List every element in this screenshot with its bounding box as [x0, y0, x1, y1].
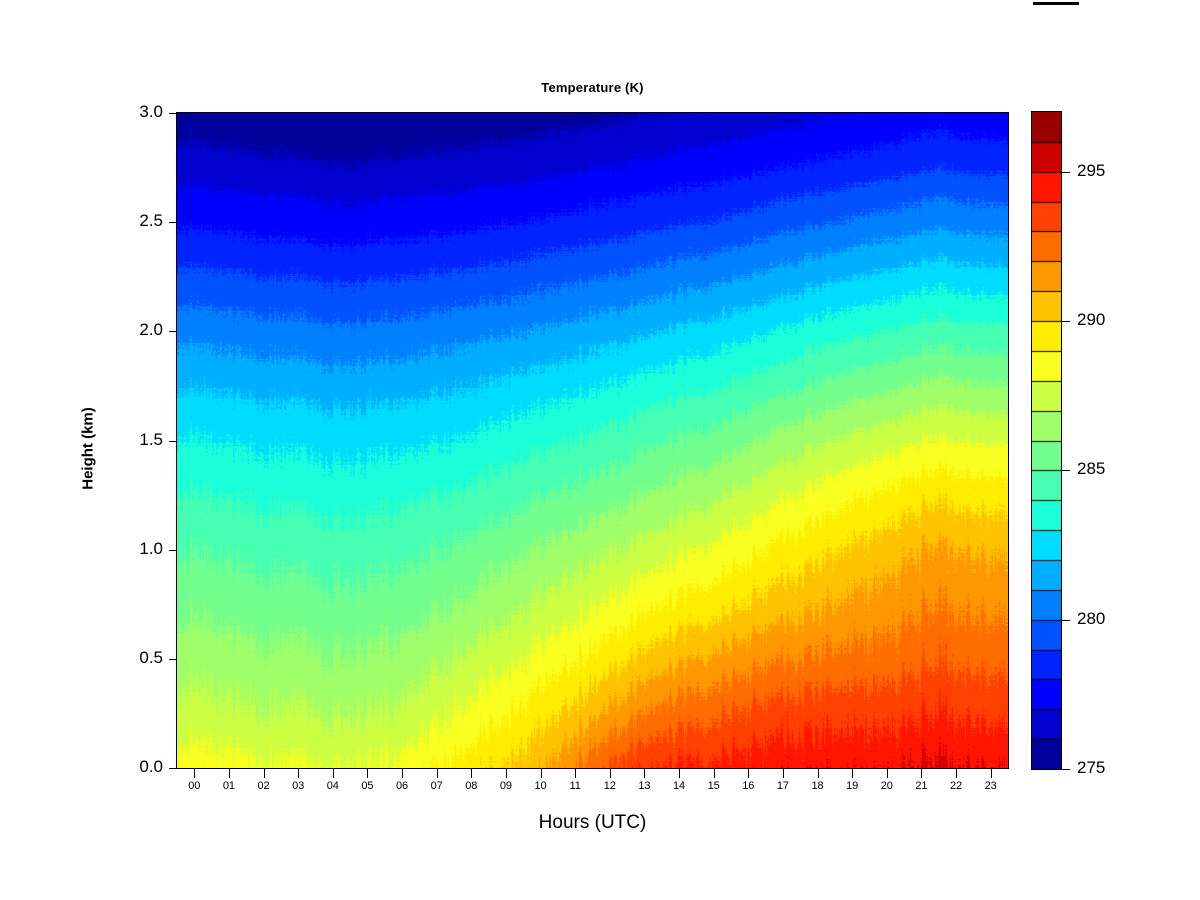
colorbar-tick-label: 275	[1077, 758, 1105, 778]
colorbar-tick-label: 280	[1077, 609, 1105, 629]
x-tick-mark	[991, 769, 992, 778]
temperature-heatmap	[177, 113, 1008, 768]
x-tick-label: 17	[769, 780, 797, 792]
page-title: Temperature (K)	[177, 80, 1008, 95]
colorbar-tick-mark	[1061, 620, 1070, 621]
x-tick-label: 12	[596, 780, 624, 792]
x-tick-label: 03	[284, 780, 312, 792]
x-tick-mark	[437, 769, 438, 778]
x-tick-label: 18	[804, 780, 832, 792]
x-tick-mark	[956, 769, 957, 778]
y-tick-mark	[169, 659, 177, 660]
x-tick-label: 13	[630, 780, 658, 792]
x-tick-mark	[783, 769, 784, 778]
x-tick-mark	[887, 769, 888, 778]
colorbar-tick-mark	[1061, 769, 1070, 770]
x-tick-mark	[402, 769, 403, 778]
x-tick-mark	[644, 769, 645, 778]
colorbar-tick-mark	[1061, 321, 1070, 322]
x-tick-label: 10	[527, 780, 555, 792]
x-tick-label: 23	[977, 780, 1005, 792]
x-tick-label: 16	[734, 780, 762, 792]
colorbar	[1032, 112, 1061, 769]
x-tick-label: 11	[561, 780, 589, 792]
x-tick-label: 15	[700, 780, 728, 792]
x-axis-title: Hours (UTC)	[177, 812, 1008, 834]
x-tick-mark	[264, 769, 265, 778]
x-tick-label: 05	[353, 780, 381, 792]
y-tick-label: 0.5	[139, 648, 163, 668]
x-tick-mark	[818, 769, 819, 778]
x-tick-mark	[679, 769, 680, 778]
colorbar-tick-mark	[1061, 172, 1070, 173]
top-edge-artifact	[1033, 2, 1079, 5]
x-tick-label: 01	[215, 780, 243, 792]
x-tick-label: 19	[838, 780, 866, 792]
x-tick-label: 04	[319, 780, 347, 792]
x-tick-mark	[506, 769, 507, 778]
y-tick-label: 3.0	[139, 102, 163, 122]
x-tick-label: 00	[180, 780, 208, 792]
y-tick-mark	[169, 768, 177, 769]
x-tick-label: 02	[250, 780, 278, 792]
y-tick-label: 2.0	[139, 320, 163, 340]
x-tick-mark	[714, 769, 715, 778]
y-tick-label: 2.5	[139, 211, 163, 231]
x-tick-label: 08	[457, 780, 485, 792]
x-tick-mark	[471, 769, 472, 778]
x-tick-mark	[367, 769, 368, 778]
x-tick-label: 06	[388, 780, 416, 792]
colorbar-tick-label: 285	[1077, 459, 1105, 479]
x-tick-mark	[541, 769, 542, 778]
y-tick-label: 1.0	[139, 539, 163, 559]
colorbar-tick-label: 290	[1077, 310, 1105, 330]
x-tick-label: 09	[492, 780, 520, 792]
y-tick-mark	[169, 222, 177, 223]
figure-root: Temperature (K) 0.00.51.01.52.02.53.0 00…	[0, 0, 1200, 900]
colorbar-tick-mark	[1061, 470, 1070, 471]
x-tick-mark	[748, 769, 749, 778]
x-tick-mark	[921, 769, 922, 778]
y-axis-title: Height (km)	[80, 349, 97, 549]
x-tick-mark	[194, 769, 195, 778]
x-tick-label: 20	[873, 780, 901, 792]
y-tick-mark	[169, 113, 177, 114]
colorbar-tick-label: 295	[1077, 161, 1105, 181]
x-tick-mark	[575, 769, 576, 778]
x-tick-mark	[852, 769, 853, 778]
y-tick-mark	[169, 331, 177, 332]
x-tick-label: 21	[907, 780, 935, 792]
x-tick-label: 14	[665, 780, 693, 792]
x-tick-mark	[229, 769, 230, 778]
x-tick-label: 07	[423, 780, 451, 792]
y-tick-mark	[169, 550, 177, 551]
x-tick-mark	[610, 769, 611, 778]
y-tick-mark	[169, 441, 177, 442]
y-tick-label: 0.0	[139, 757, 163, 777]
y-tick-label: 1.5	[139, 430, 163, 450]
x-tick-mark	[333, 769, 334, 778]
x-tick-label: 22	[942, 780, 970, 792]
x-tick-mark	[298, 769, 299, 778]
